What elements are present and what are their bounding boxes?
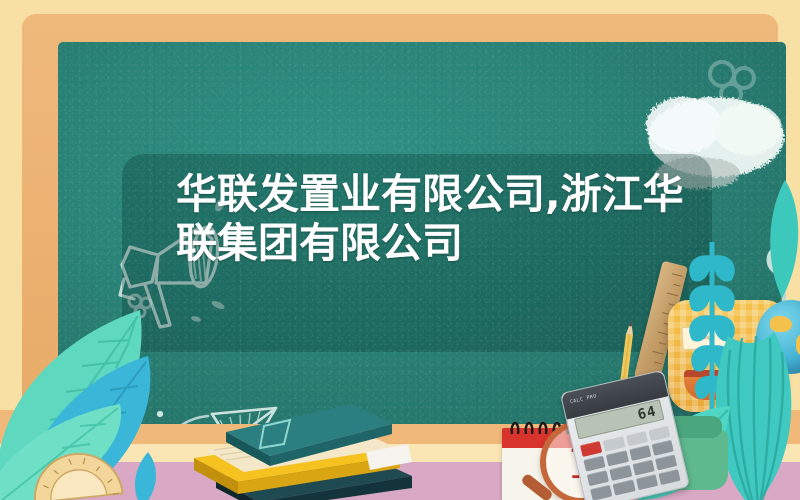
- leaf-decoration-right-4: [760, 180, 800, 300]
- calculator-key[interactable]: [609, 465, 631, 481]
- protractor: [25, 435, 127, 500]
- calculator-key[interactable]: [603, 435, 625, 451]
- calculator-key[interactable]: [651, 440, 673, 456]
- calculator-key[interactable]: [590, 485, 612, 500]
- calculator-key[interactable]: [580, 441, 602, 457]
- calculator-key[interactable]: [606, 450, 628, 466]
- calculator-key[interactable]: [648, 425, 670, 441]
- calculator-key[interactable]: [655, 454, 677, 470]
- calculator-key[interactable]: [625, 430, 647, 446]
- calculator-key[interactable]: [613, 479, 635, 495]
- stacked-books: [120, 400, 420, 500]
- calculator-key[interactable]: [635, 474, 657, 490]
- calculator-key[interactable]: [583, 455, 605, 471]
- calculator-key[interactable]: [632, 459, 654, 475]
- flower-chalk-icon-top: [698, 52, 768, 112]
- calculator-key[interactable]: [658, 469, 680, 485]
- calculator-keypad: [580, 425, 681, 500]
- calculator-display-value: 64: [636, 403, 658, 423]
- banner-stage: 华联发置业有限公司,浙江华联集团有限公司: [0, 0, 800, 500]
- calculator-key[interactable]: [587, 470, 609, 486]
- calculator-brand-label: CALC PRO: [569, 393, 597, 405]
- calculator-key[interactable]: [629, 445, 651, 461]
- page-title: 华联发置业有限公司,浙江华联集团有限公司: [176, 170, 696, 268]
